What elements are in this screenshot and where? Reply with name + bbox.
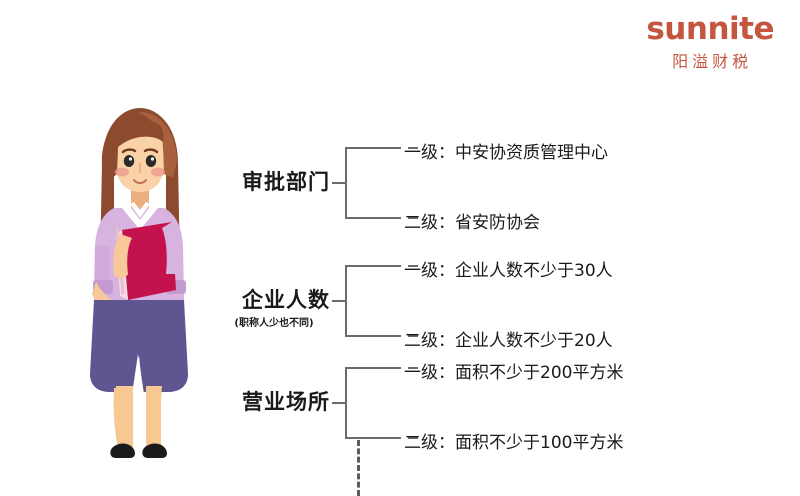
tree-item: 一级：企业人数不少于30人 (404, 256, 613, 281)
group-label: 审批部门 (218, 166, 330, 196)
tree-item: 二级：企业人数不少于20人 (404, 326, 613, 351)
group-label: 企业人数 (218, 284, 330, 314)
connector-stub (332, 402, 345, 404)
slide-canvas: sunnite 阳溢财税 (0, 0, 800, 496)
group-note: (职称人少也不同) (218, 314, 330, 329)
logo-wordmark: sunnite (646, 14, 774, 45)
brand-logo: sunnite 阳溢财税 (646, 14, 774, 70)
tree-group: 营业场所 一级：面积不少于200平方米 二级：面积不少于100平方米 (218, 356, 778, 452)
tree-item: 一级：中安协资质管理中心 (404, 138, 608, 163)
bracket-vertical (345, 147, 347, 219)
group-label: 营业场所 (218, 386, 330, 416)
connector-stub (332, 182, 345, 184)
bracket-arm-bottom (345, 217, 401, 219)
woman-holding-book-illustration (80, 104, 200, 474)
logo-subtitle: 阳溢财税 (646, 54, 774, 70)
bracket-arm-top (345, 147, 401, 149)
bracket-arm-bottom (345, 335, 401, 337)
tree-item: 二级：面积不少于100平方米 (404, 428, 623, 453)
bracket-vertical (345, 367, 347, 439)
bracket-arm-bottom (345, 437, 401, 439)
dashed-continuation-line (357, 440, 360, 496)
bracket-vertical (345, 265, 347, 337)
connector-stub (332, 300, 345, 302)
tree-group: 审批部门 一级：中安协资质管理中心 二级：省安防协会 (218, 136, 778, 232)
tree-item: 二级：省安防协会 (404, 208, 540, 233)
bracket-arm-top (345, 367, 401, 369)
tree-group: 企业人数 (职称人少也不同) 一级：企业人数不少于30人 二级：企业人数不少于2… (218, 254, 778, 350)
bracket-arm-top (345, 265, 401, 267)
tree-item: 一级：面积不少于200平方米 (404, 358, 623, 383)
